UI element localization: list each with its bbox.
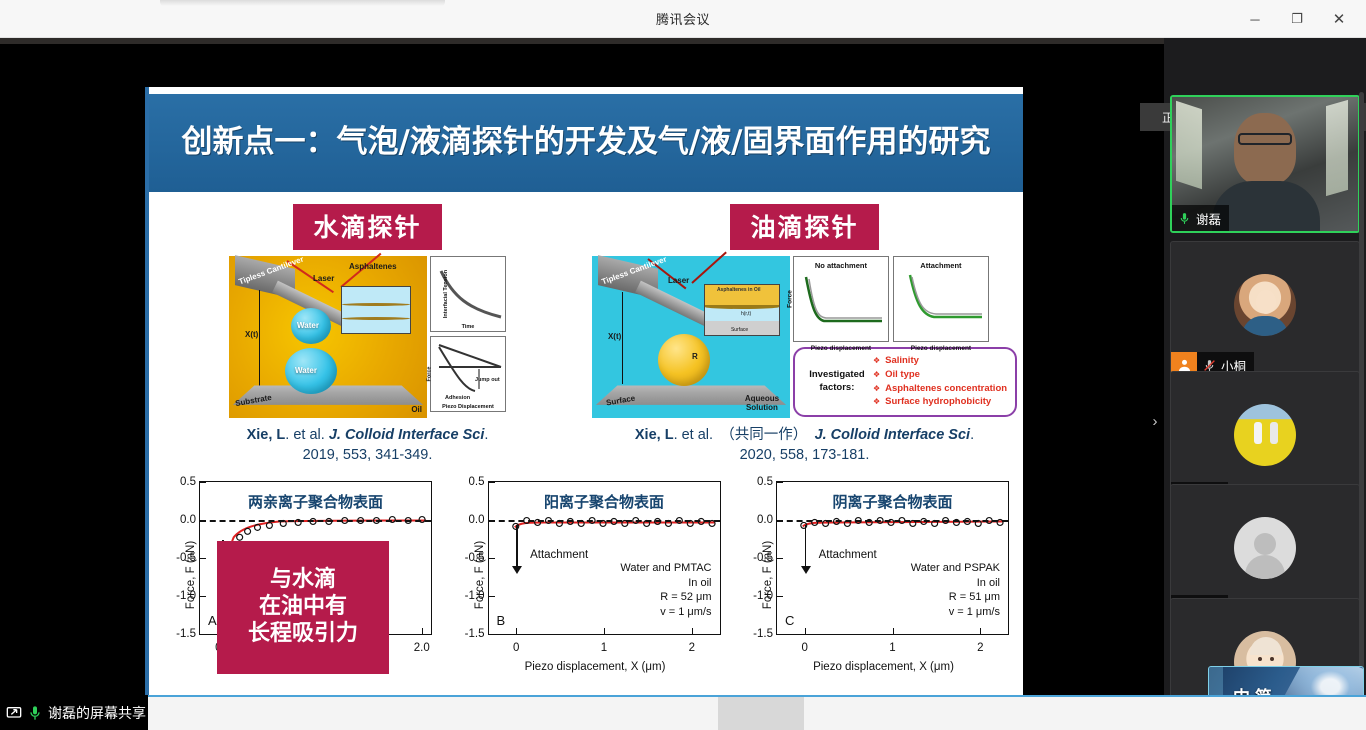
maximize-icon[interactable]: ❐ [1276, 0, 1318, 38]
chart-c-ytick: 0.0 [757, 514, 773, 526]
label-laser-2: Laser [668, 276, 689, 285]
participant-name: 谢磊 [1196, 209, 1221, 228]
chart-panel-a: Force, F (nN) 两亲离子聚合物表面 [155, 475, 438, 675]
chart-b-attachment-arrow [516, 525, 518, 568]
xt-measure-bar-2 [622, 292, 623, 384]
left-figure: Tipless Cantilever Laser Asphaltenes X(t… [229, 256, 506, 418]
chart-panel-b: Force, F (nN) 阳离子聚合物表面 [444, 475, 727, 675]
chart-c-attachment-label: Attachment [819, 549, 877, 561]
investigated-factors-label: Investigated factors: [801, 369, 873, 394]
left-citation-line2: 2019, 553, 341-349. [303, 447, 433, 463]
chart-b-zero-line [489, 520, 720, 522]
taskbar-notch [718, 697, 804, 730]
chart-c-ytick: -1.0 [753, 590, 773, 602]
interfacial-tension-xlabel: Time [431, 324, 505, 330]
right-citation-authors: Xie, L [635, 427, 674, 443]
chart-c-xtick: 0 [802, 642, 808, 654]
chart-b-note-4: v = 1 μm/s [620, 605, 711, 620]
chart-b-ytick: 0.0 [469, 514, 485, 526]
chart-c-ytick: 0.5 [757, 476, 773, 488]
label-asphaltenes-in-oil: Asphaltenes in Oil [717, 287, 761, 293]
label-aqueous-solution: Aqueous Solution [739, 394, 785, 412]
participant-avatar-default [1234, 517, 1296, 579]
label-xt-2: X(t) [608, 332, 621, 341]
chart-b-ytick: -0.5 [465, 552, 485, 564]
chart-b-notes: Water and PMTAC In oil R = 52 μm v = 1 μ… [620, 561, 711, 619]
label-water-bottom: Water [295, 366, 317, 375]
attachment-chart: Attachment Piezo displacement [893, 256, 989, 342]
factor-item: Oil type [873, 368, 1007, 382]
taskbar: 谢磊的屏幕共享 [0, 695, 1366, 730]
chart-c-ytick: -1.5 [753, 628, 773, 640]
meeting-stage: 创新点一：气泡/液滴探针的开发及气/液/固界面作用的研究 水滴探针 Tiples… [0, 38, 1366, 695]
callout-line-2: 在油中有 [259, 594, 347, 621]
force-piezo-ylabel: Force [426, 367, 432, 382]
chart-b-note-1: Water and PMTAC [620, 561, 711, 576]
chart-a-ytick: -0.5 [176, 552, 196, 564]
participant-namebar: 谢磊 [1172, 205, 1229, 231]
ghost-tab-strip [160, 0, 445, 6]
label-laser: Laser [313, 274, 334, 283]
chart-a-ytick: 0.5 [180, 476, 196, 488]
chart-b-ytick: -1.5 [465, 628, 485, 640]
rail-scrollbar[interactable] [1359, 92, 1364, 672]
adhesion-annotation: Adhesion [445, 395, 470, 401]
chart-a-letter: A [208, 613, 217, 628]
chart-a-ytick: -1.0 [176, 590, 196, 602]
oil-droplet-probe-schematic: Tipless Cantilever Laser X(t) R [592, 256, 790, 418]
factor-item: Surface hydrophobicity [873, 395, 1007, 409]
chart-c-note-1: Water and PSPAK [911, 561, 1000, 576]
chart-b-xtick: 1 [601, 642, 607, 654]
chart-b-xtick: 0 [513, 642, 519, 654]
chart-a-ytick: 0.0 [180, 514, 196, 526]
chart-b-note-3: R = 52 μm [620, 590, 711, 605]
right-citation-journal: J. Colloid Interface Sci [815, 427, 971, 443]
participant-tile[interactable]: 小桐 [1170, 241, 1360, 379]
force-piezo-curve [431, 337, 507, 413]
left-panel-tag: 水滴探针 [293, 204, 441, 250]
chart-b-xlabel: Piezo displacement, X (μm) [464, 661, 727, 673]
label-inset-surface: Surface [731, 327, 748, 333]
participant-rail: 正在讲话: 谢磊; ⟸ 谢磊 [1164, 38, 1366, 695]
taskbar-strip [148, 695, 1366, 730]
mic-on-icon [27, 705, 43, 721]
force-piezo-xlabel: Piezo Displacement [431, 404, 505, 410]
left-mini-charts: Interfacial Tension Time Force [430, 256, 506, 418]
close-icon[interactable]: ✕ [1318, 0, 1360, 38]
chart-c-zero-line [777, 520, 1008, 522]
callout-line-1: 与水滴 [270, 567, 336, 594]
chart-a-zero-line [200, 520, 431, 522]
window-controls: ─ ❐ ✕ [1234, 0, 1360, 38]
force-piezo-chart: Force Jump out Adhesion Piezo Displaceme… [430, 336, 506, 412]
asphaltene-interface-inset [341, 286, 411, 334]
callout-line-3: 长程吸引力 [248, 621, 358, 648]
laser-beam-out-icon-2 [691, 251, 727, 283]
right-panel: 油滴探针 Tipless Cantilever Laser X(t) [586, 204, 1023, 465]
left-citation-authors: Xie, L [247, 427, 286, 443]
chart-a-title: 两亲离子聚合物表面 [200, 491, 431, 512]
left-citation: Xie, L. et al. J. Colloid Interface Sci.… [247, 426, 489, 465]
no-attachment-ylabel: Force [786, 290, 793, 308]
right-figure: Tipless Cantilever Laser X(t) R [592, 256, 1017, 418]
screen-share-label: 谢磊的屏幕共享 [48, 703, 146, 723]
label-substrate: Substrate [234, 393, 272, 408]
chart-panel-c: Force, F (nN) 阴离子聚合物表面 [732, 475, 1015, 675]
interfacial-tension-chart: Interfacial Tension Time [430, 256, 506, 332]
minimize-icon[interactable]: ─ [1234, 0, 1276, 38]
chart-c-attachment-arrow [805, 525, 807, 568]
factor-item: Asphaltenes concentration [873, 382, 1007, 396]
chart-b-attachment-label: Attachment [530, 549, 588, 561]
presentation-slide: 创新点一：气泡/液滴探针的开发及气/液/固界面作用的研究 水滴探针 Tiples… [145, 87, 1023, 730]
window-title: 腾讯会议 [656, 9, 710, 28]
chart-b-plot: 阳离子聚合物表面 [488, 481, 721, 635]
right-citation-line2: 2020, 558, 173-181. [740, 447, 870, 463]
chart-c-letter: C [785, 613, 794, 628]
chart-b-ytick: -1.0 [465, 590, 485, 602]
factor-item: Salinity [873, 354, 1007, 368]
chart-b-ytick: 0.5 [469, 476, 485, 488]
label-xt: X(t) [245, 330, 258, 339]
slide-title: 创新点一：气泡/液滴探针的开发及气/液/固界面作用的研究 [149, 94, 1023, 192]
force-curve-charts: Force, F (nN) 两亲离子聚合物表面 [155, 475, 1015, 675]
chart-a-ytick: -1.5 [176, 628, 196, 640]
chart-b-letter: B [497, 613, 506, 628]
chart-c-note-4: v = 1 μm/s [911, 605, 1000, 620]
no-attachment-chart: No attachment Force Piezo displacement [793, 256, 889, 342]
label-radius: R [692, 352, 698, 361]
label-asphaltenes: Asphaltenes [349, 262, 397, 271]
window-titlebar: 腾讯会议 ─ ❐ ✕ [0, 0, 1366, 38]
chart-c-note-2: In oil [911, 576, 1000, 591]
interfacial-tension-ylabel: Interfacial Tension [443, 270, 449, 318]
xt-measure-bar [259, 290, 260, 386]
right-citation-rest: . et al. （共同一作） [674, 427, 815, 443]
chart-b-note-2: In oil [620, 576, 711, 591]
right-citation-tail: . [970, 427, 974, 443]
chart-c-xlabel: Piezo displacement, X (μm) [752, 661, 1015, 673]
chart-c-xtick: 1 [889, 642, 895, 654]
right-mini-charts-row: No attachment Force Piezo displacement [793, 256, 1017, 342]
rail-collapse-chevron-icon[interactable]: › [1148, 410, 1162, 432]
right-mini-charts-group: No attachment Force Piezo displacement [793, 256, 1017, 418]
attachment-title: Attachment [894, 261, 988, 270]
right-panel-tag: 油滴探针 [730, 204, 878, 250]
chart-a-xtick: 2.0 [414, 642, 430, 654]
slide-two-column-row: 水滴探针 Tipless Cantilever Laser Asphaltene… [149, 204, 1023, 465]
chart-c-ytick: -0.5 [753, 552, 773, 564]
oil-interface-inset: Asphaltenes in Oil h(r,t) Surface [704, 284, 780, 336]
left-citation-rest: . et al. [285, 427, 329, 443]
label-water-top: Water [297, 321, 319, 330]
attachment-xlabel: Piezo displacement [894, 345, 988, 352]
mic-on-icon [1172, 211, 1196, 226]
chart-b-title: 阳离子聚合物表面 [489, 491, 720, 512]
oil-droplet [658, 334, 710, 386]
left-citation-journal: J. Colloid Interface Sci [329, 427, 485, 443]
no-attachment-title: No attachment [794, 261, 888, 270]
left-panel: 水滴探针 Tipless Cantilever Laser Asphaltene… [149, 204, 586, 465]
label-hrt: h(r,t) [741, 311, 751, 317]
chart-c-note-3: R = 51 μm [911, 590, 1000, 605]
participant-tile[interactable]: 谢磊 [1170, 95, 1360, 233]
no-attachment-xlabel: Piezo displacement [794, 345, 888, 352]
chart-c-title: 阴离子聚合物表面 [777, 491, 1008, 512]
participant-avatar [1234, 274, 1296, 336]
chart-c-xtick: 2 [977, 642, 983, 654]
app-root: 腾讯会议 ─ ❐ ✕ 创新点一：气泡/液滴探针的开发及气/液/固界面作用的研究 … [0, 0, 1366, 730]
chart-c-notes: Water and PSPAK In oil R = 51 μm v = 1 μ… [911, 561, 1000, 619]
screen-share-icon [6, 705, 22, 721]
chart-c-plot: 阴离子聚合物表面 [776, 481, 1009, 635]
right-citation: Xie, L. et al. （共同一作） J. Colloid Interfa… [635, 426, 974, 465]
investigated-factors-box: Investigated factors: Salinity Oil type … [793, 347, 1017, 417]
callout-overlay: 与水滴 在油中有 长程吸引力 [217, 541, 389, 674]
label-oil-medium: Oil [411, 405, 422, 414]
participant-avatar [1234, 404, 1296, 466]
water-droplet-probe-schematic: Tipless Cantilever Laser Asphaltenes X(t… [229, 256, 427, 418]
investigated-factors-list: Salinity Oil type Asphaltenes concentrat… [873, 354, 1007, 409]
jump-out-annotation: Jump out [475, 377, 500, 383]
left-citation-tail: . [484, 427, 488, 443]
chart-b-xtick: 2 [689, 642, 695, 654]
